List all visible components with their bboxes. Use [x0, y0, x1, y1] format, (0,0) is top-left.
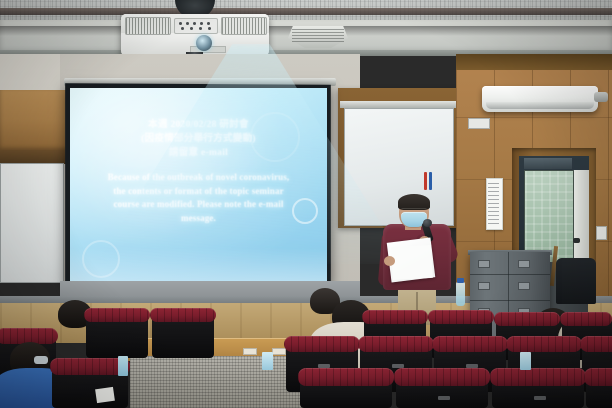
cabinet-label-1 [478, 260, 490, 268]
air-conditioner-pipe [594, 92, 608, 102]
seat-row3-tag-3 [438, 396, 450, 400]
air-diffuser-slats [292, 29, 344, 42]
cabinet-label-2 [518, 260, 530, 268]
projector-control-panel[interactable] [174, 18, 218, 34]
wall-notice-text-lines [488, 182, 499, 224]
desk-item-notebook-right [520, 352, 531, 370]
seat-row3-headrest-4[interactable] [490, 368, 586, 386]
desk-outlet-plate-2[interactable] [272, 348, 286, 355]
seat-row2-headrest-3[interactable] [432, 336, 508, 352]
seat-row2-headrest-2[interactable] [358, 336, 434, 352]
microphone-head-icon [423, 219, 432, 227]
slide-content: 本週 2020/02/28 研討會 (因疫情部分舉行方式變動) 請留意 e-ma… [70, 118, 327, 225]
screen-bottom-glare [70, 248, 327, 281]
desk-outlet-plate-1[interactable] [243, 348, 257, 355]
marker-blue-icon [429, 172, 432, 190]
slide-body-line-1: Because of the outbreak of novel coronav… [70, 171, 327, 185]
seat-row1-headrest-3[interactable] [362, 310, 428, 324]
whiteboard-top-rail [340, 101, 456, 108]
seat-row2-headrest-5[interactable] [580, 336, 612, 352]
door-transom [524, 158, 572, 169]
seat-row1-headrest-4[interactable] [428, 310, 494, 324]
slide-body-line-2: the contents or format of the topic semi… [70, 185, 327, 199]
marker-red-icon [424, 172, 427, 190]
seat-row1-headrest-6[interactable] [560, 312, 612, 326]
slide-title-line-1: 本週 2020/02/28 研討會 [70, 118, 327, 132]
seat-row3-headrest-2[interactable] [298, 368, 394, 386]
seat-row3-headrest-3[interactable] [394, 368, 490, 386]
front-desk-mesh-panel [130, 356, 305, 408]
whiteboard-left [0, 163, 64, 283]
slide-title-line-3: 請留意 e-mail [70, 146, 327, 160]
lecture-hall-photo: 本週 2020/02/28 研討會 (因疫情部分舉行方式變動) 請留意 e-ma… [0, 0, 612, 408]
cabinet-label-3 [478, 282, 490, 290]
desk-item-notebook-left [118, 356, 128, 376]
seat-row3-tag-4 [534, 396, 546, 400]
audience-face-mask-front-left [34, 356, 48, 364]
projector-vent-right [221, 17, 267, 35]
desk-item-notebook-center [262, 352, 273, 370]
wood-wall-top-trim [456, 54, 612, 70]
seat-row1-headrest-5[interactable] [494, 312, 560, 326]
desk-item-paper-left [95, 387, 115, 403]
speaker-left-hand [384, 256, 395, 266]
water-bottle [456, 282, 465, 306]
slide-title: 本週 2020/02/28 研討會 (因疫情部分舉行方式變動) 請留意 e-ma… [70, 118, 327, 160]
slide-body: Because of the outbreak of novel coronav… [70, 171, 327, 225]
stage-chair[interactable] [556, 258, 596, 304]
seat-row3-headrest-5[interactable] [584, 368, 612, 386]
projector-vent-left [125, 17, 171, 35]
seat-row2-headrest-4[interactable] [506, 336, 582, 352]
water-bottle-cap [457, 278, 464, 283]
ceiling-dark-strip [0, 8, 612, 15]
cabinet-label-4 [518, 282, 530, 290]
door-handle[interactable] [573, 238, 580, 243]
wall-left-wood-panel [0, 90, 68, 150]
seat-row1-headrest-1[interactable] [84, 308, 150, 322]
printed-handout-second-sheet [391, 245, 433, 280]
wall-left-wood-trim [0, 150, 68, 164]
ac-control-box[interactable] [468, 118, 490, 129]
air-conditioner-vent [486, 102, 594, 109]
seat-row1-headrest-2[interactable] [150, 308, 216, 322]
seat-row2-headrest-1[interactable] [284, 336, 360, 352]
projector-lens-icon [196, 35, 212, 51]
slide-body-line-3: course are modified. Please note the e-m… [70, 198, 327, 212]
light-switch[interactable] [596, 226, 607, 240]
slide-title-line-2: (因疫情部分舉行方式變動) [70, 132, 327, 146]
slide-body-line-4: message. [70, 212, 327, 226]
